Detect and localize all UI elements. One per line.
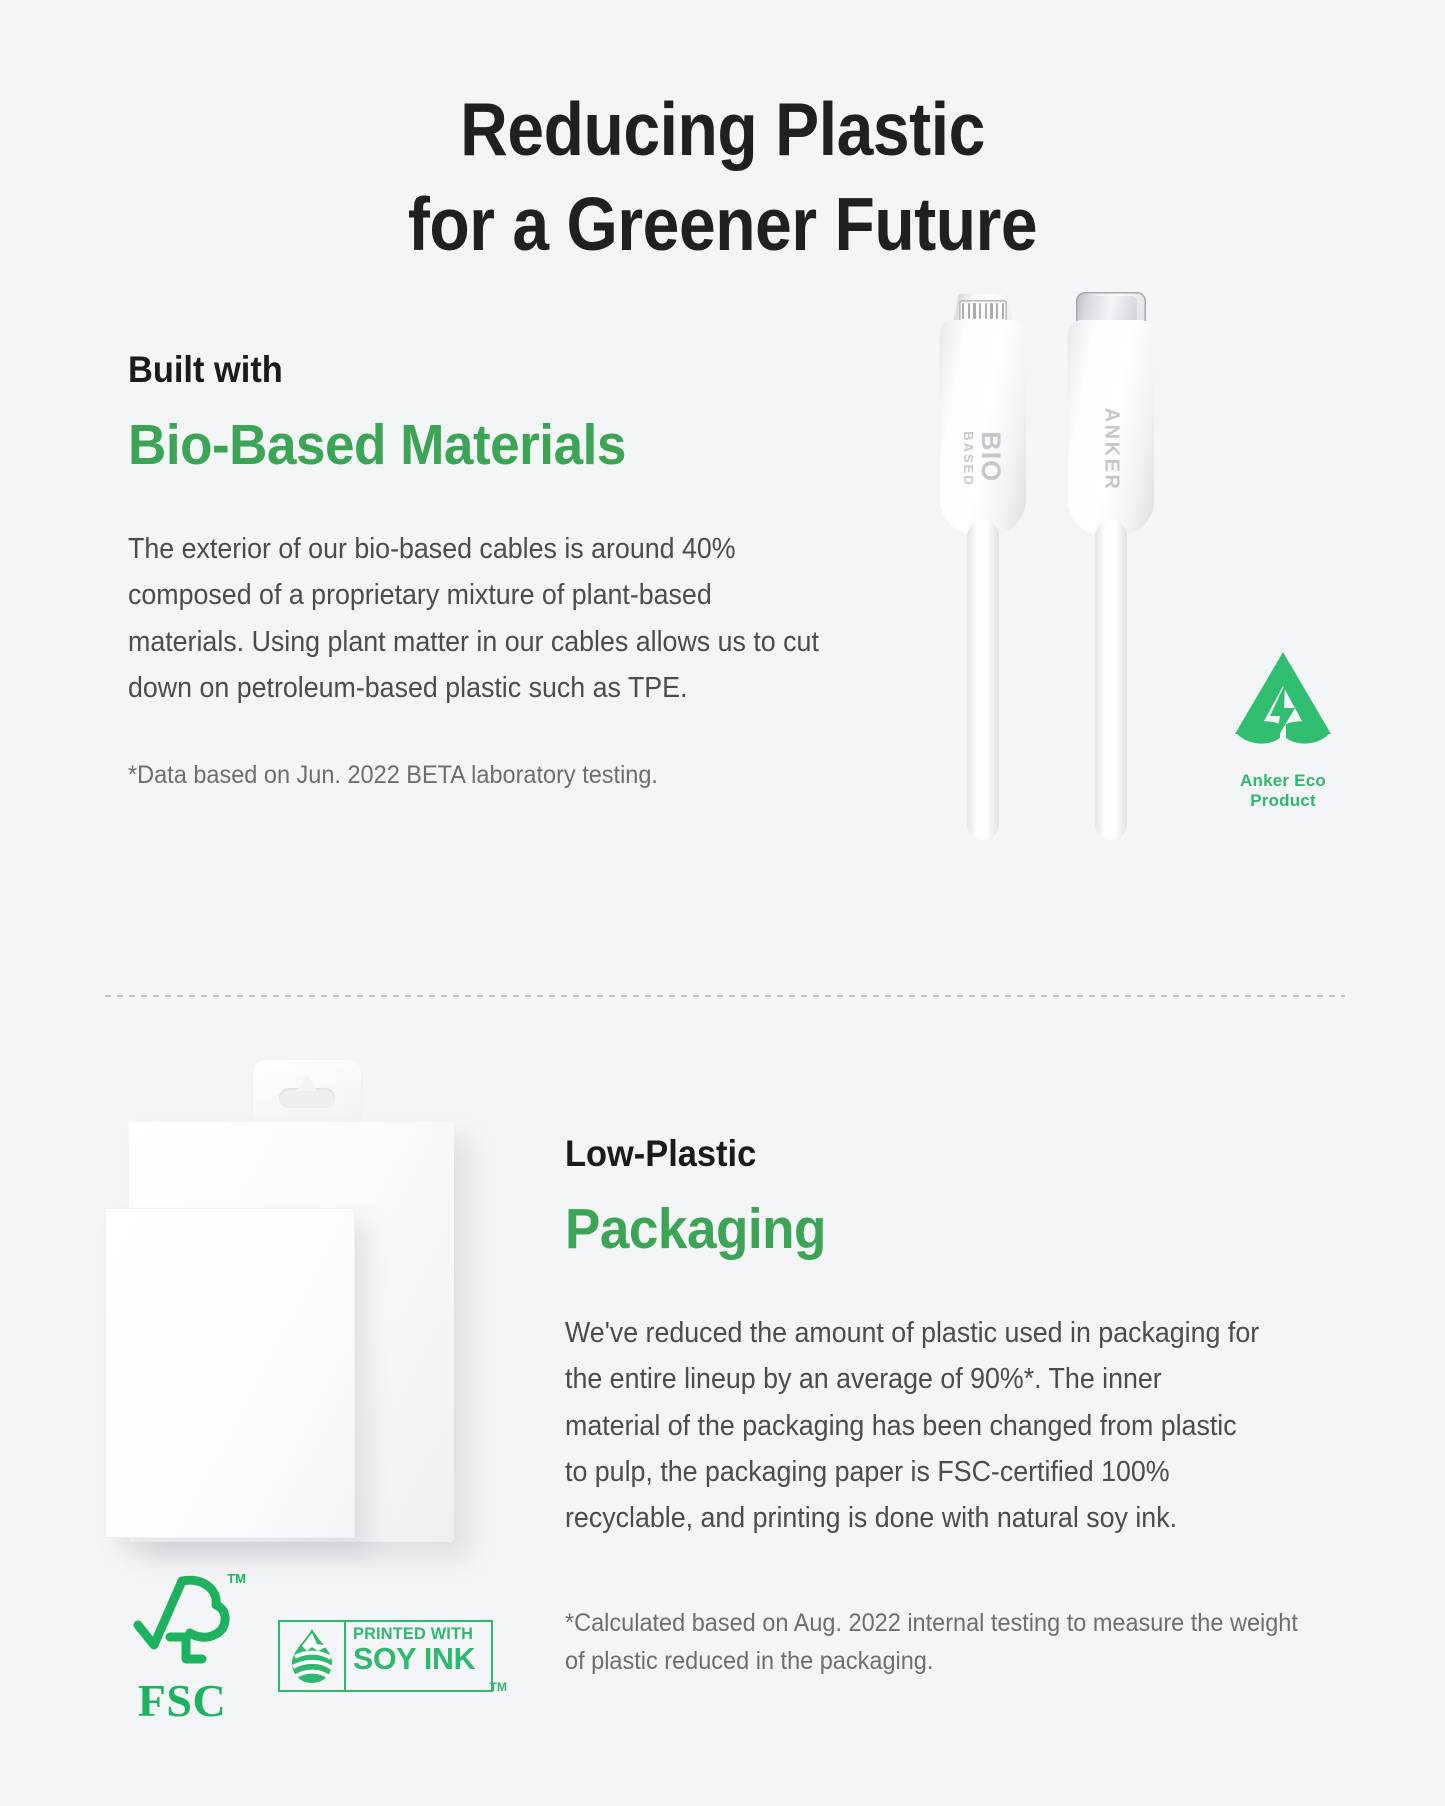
cable-cord-left [967,520,999,840]
lightning-connector-body [940,320,1026,535]
anker-eco-product-caption: Anker Eco Product [1208,771,1358,811]
bio-headline: Bio-Based Materials [128,410,779,481]
section-bio-based-materials: Built with Bio-Based Materials The exter… [0,330,1445,970]
packaging-text-column: Low-Plastic Packaging We've reduced the … [565,1132,1425,1542]
page-title-line-2: for a Greener Future [87,177,1359,272]
anker-eco-product-logo-icon [1223,747,1343,764]
page-title: Reducing Plastic for a Greener Future [0,82,1445,271]
low-plastic-packaging-image [105,1060,525,1560]
bio-label-line-2: BASED [962,431,975,487]
bio-kicker: Built with [128,348,779,392]
packaging-footnote: *Calculated based on Aug. 2022 internal … [565,1605,1308,1680]
bio-footnote: *Data based on Jun. 2022 BETA laboratory… [128,757,871,795]
bio-footnote-wrap: *Data based on Jun. 2022 BETA laboratory… [128,757,918,795]
cable-cord-right [1095,520,1127,840]
bio-label-line-1: BIO [976,431,1006,482]
packaging-body-text: We've reduced the amount of plastic used… [565,1310,1261,1542]
anker-eco-product-badge: Anker Eco Product [1208,648,1358,811]
packaging-headline: Packaging [565,1194,1365,1265]
soy-ink-droplet-icon [280,1622,346,1690]
packaging-footnote-wrap: *Calculated based on Aug. 2022 internal … [565,1605,1355,1680]
fsc-certification-logo: TM FSC [122,1575,242,1724]
soy-ink-trademark: TM [490,1680,507,1694]
soy-ink-certification-logo: PRINTED WITH SOY INK TM [278,1620,493,1692]
page-title-line-1: Reducing Plastic [87,82,1359,177]
bio-based-print-label: BIO BASED [962,431,1004,487]
fsc-label: FSC [122,1678,242,1724]
fsc-trademark: TM [227,1571,246,1586]
packaging-box-front-panel [105,1208,355,1538]
anker-print-label: ANKER [1100,408,1123,492]
lightning-connector: BIO BASED [940,320,1026,820]
bio-based-cable-image: BIO BASED ANKER [940,320,1180,820]
lightning-pins-icon [959,300,1007,322]
section-divider [105,995,1345,997]
soy-ink-text: PRINTED WITH SOY INK [346,1622,491,1690]
certification-logos: TM FSC [110,1575,540,1745]
bio-text-column: Built with Bio-Based Materials The exter… [128,348,828,711]
packaging-kicker: Low-Plastic [565,1132,1365,1176]
fsc-tree-check-icon [130,1658,234,1675]
bio-body-text: The exterior of our bio-based cables is … [128,526,824,712]
usb-c-connector: ANKER [1068,320,1154,820]
soy-ink-label-large: SOY INK [353,1643,482,1676]
